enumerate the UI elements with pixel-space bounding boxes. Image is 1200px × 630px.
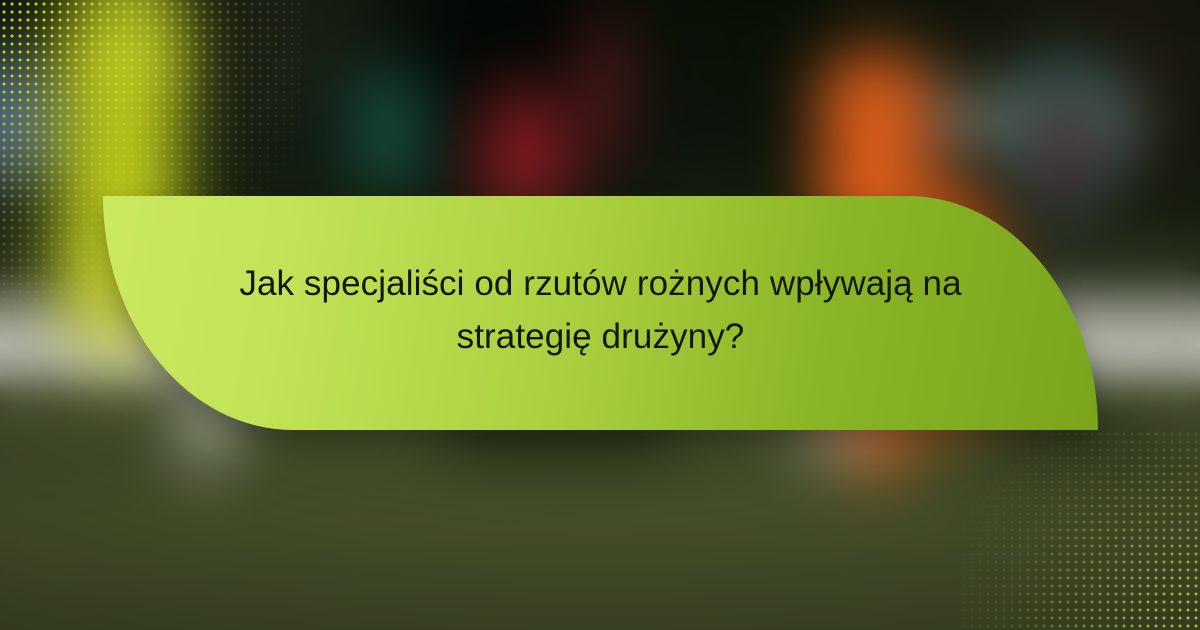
- headline-banner: Jak specjaliści od rzutów rożnych wpływa…: [103, 196, 1098, 430]
- social-share-card: Jak specjaliści od rzutów rożnych wpływa…: [0, 0, 1200, 630]
- page-title: Jak specjaliści od rzutów rożnych wpływa…: [171, 257, 1031, 369]
